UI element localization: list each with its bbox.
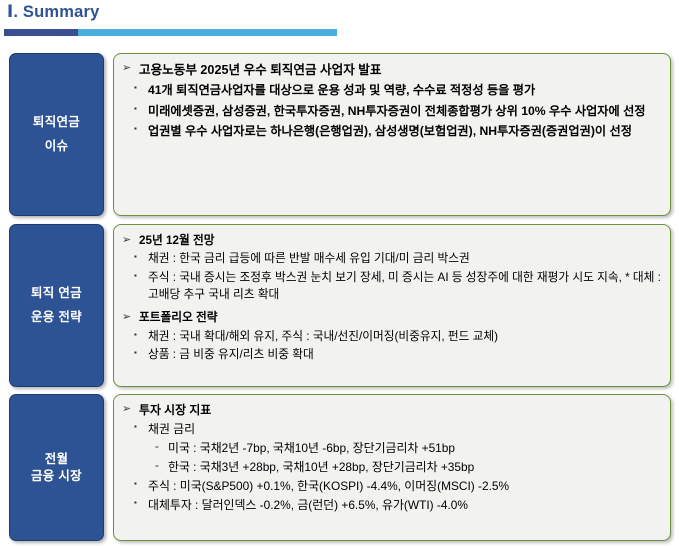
content-item-text: 미국 : 국채2년 -7bp, 국채10년 -6bp, 장단기금리차 +51bp — [168, 441, 455, 455]
content-item-text: 고용노동부 2025년 우수 퇴직연금 사업자 발표 — [139, 63, 381, 77]
content-item: ▪ 미래에셋증권, 삼성증권, 한국투자증권, NH투자증권이 전체종합평가 상… — [122, 102, 662, 122]
section-row-pension-operation-strategy: 퇴직 연금 운용 전략 ➢ 25년 12월 전망 ▪ 채권 : 한국 금리 급등… — [0, 224, 671, 387]
section-label-line-2: 금융 시장 — [31, 468, 82, 485]
content-item-text: 업권별 우수 사업자로는 하나은행(은행업권), 삼성생명(보험업권), NH투… — [148, 124, 632, 138]
content-item: - 미국 : 국채2년 -7bp, 국채10년 -6bp, 장단기금리차 +51… — [122, 439, 662, 457]
square-bullet-icon: ▪ — [134, 82, 137, 95]
content-item: ▪ 업권별 우수 사업자로는 하나은행(은행업권), 삼성생명(보험업권), N… — [122, 122, 662, 142]
square-bullet-icon: ▪ — [134, 478, 137, 490]
section-content-pension-operation-strategy: ➢ 25년 12월 전망 ▪ 채권 : 한국 금리 급등에 따른 반발 매수세 … — [113, 224, 671, 387]
content-item-text: 미래에셋증권, 삼성증권, 한국투자증권, NH투자증권이 전체종합평가 상위 … — [148, 104, 646, 118]
content-item: ▪ 채권 : 한국 금리 급등에 따른 반발 매수세 유입 기대/미 금리 박스… — [122, 250, 662, 267]
content-item-text: 채권 금리 — [148, 422, 195, 436]
square-bullet-icon: ▪ — [134, 251, 137, 263]
square-bullet-icon: ▪ — [134, 347, 137, 359]
content-item: ➢ 25년 12월 전망 — [122, 232, 662, 249]
section-label-line-1: 퇴직연금 — [33, 111, 80, 135]
content-item-text: 41개 퇴직연금사업자를 대상으로 운용 성과 및 역량, 수수료 적정성 등을… — [148, 83, 535, 97]
dash-bullet-icon: - — [155, 439, 159, 456]
content-item: ➢ 고용노동부 2025년 우수 퇴직연금 사업자 발표 — [122, 60, 662, 80]
section-content-retirement-pension-issue: ➢ 고용노동부 2025년 우수 퇴직연금 사업자 발표 ▪ 41개 퇴직연금사… — [113, 53, 671, 216]
content-item-text: 채권 : 국내 확대/해외 유지, 주식 : 국내/선진/이머징(비중유지, 펀… — [148, 330, 498, 343]
summary-page: Ⅰ. Summary 퇴직연금 이슈 ➢ 고용노동부 2025년 우수 퇴직연금… — [0, 0, 679, 546]
square-bullet-icon: ▪ — [134, 329, 137, 341]
content-item: ▪ 상품 : 금 비중 유지/리츠 비중 확대 — [122, 346, 662, 363]
title-underline-rule — [4, 29, 337, 36]
square-bullet-icon: ▪ — [134, 270, 137, 282]
arrow-bullet-icon: ➢ — [122, 60, 131, 78]
arrow-bullet-icon: ➢ — [122, 309, 131, 325]
section-label-line-1: 전월 — [45, 451, 69, 468]
content-item-text: 대체투자 : 달러인덱스 -0.2%, 금(런던) +6.5%, 유가(WTI)… — [148, 498, 468, 512]
content-item-text: 투자 시장 지표 — [139, 403, 211, 417]
section-label-line-2: 운용 전략 — [31, 306, 82, 330]
section-label-line-1: 퇴직 연금 — [31, 282, 82, 306]
rule-dark-segment — [4, 29, 78, 36]
content-item-text: 포트폴리오 전략 — [139, 311, 218, 324]
content-item: ▪ 채권 : 국내 확대/해외 유지, 주식 : 국내/선진/이머징(비중유지,… — [122, 328, 662, 345]
content-item-text: 주식 : 미국(S&P500) +0.1%, 한국(KOSPI) -4.4%, … — [148, 479, 509, 493]
section-label-previous-month-financial-market: 전월 금융 시장 — [9, 394, 104, 541]
content-item-text: 주식 : 국내 증시는 조정후 박스권 눈치 보기 장세, 미 증시는 AI 등… — [148, 271, 661, 301]
content-item-text: 한국 : 국채3년 +28bp, 국채10년 +28bp, 장단기금리차 +35… — [168, 460, 474, 474]
square-bullet-icon: ▪ — [134, 103, 137, 116]
page-title: Ⅰ. Summary — [7, 2, 100, 22]
content-item-text: 25년 12월 전망 — [139, 234, 215, 247]
section-label-retirement-pension-issue: 퇴직연금 이슈 — [9, 53, 104, 216]
content-item: ▪ 주식 : 국내 증시는 조정후 박스권 눈치 보기 장세, 미 증시는 AI… — [122, 269, 662, 304]
content-item: ▪ 채권 금리 — [122, 420, 662, 438]
section-row-retirement-pension-issue: 퇴직연금 이슈 ➢ 고용노동부 2025년 우수 퇴직연금 사업자 발표 ▪ 4… — [0, 53, 671, 216]
arrow-bullet-icon: ➢ — [122, 401, 131, 418]
section-label-line-2: 이슈 — [45, 135, 69, 159]
content-item: - 한국 : 국채3년 +28bp, 국채10년 +28bp, 장단기금리차 +… — [122, 458, 662, 476]
content-item-text: 상품 : 금 비중 유지/리츠 비중 확대 — [148, 348, 314, 361]
content-item: ▪ 41개 퇴직연금사업자를 대상으로 운용 성과 및 역량, 수수료 적정성 … — [122, 81, 662, 101]
square-bullet-icon: ▪ — [134, 123, 137, 136]
arrow-bullet-icon: ➢ — [122, 232, 131, 248]
content-item: ➢ 포트폴리오 전략 — [122, 309, 662, 326]
content-item: ▪ 대체투자 : 달러인덱스 -0.2%, 금(런던) +6.5%, 유가(WT… — [122, 496, 662, 514]
content-item: ➢ 투자 시장 지표 — [122, 401, 662, 419]
content-spacer — [122, 304, 662, 308]
square-bullet-icon: ▪ — [134, 497, 137, 509]
section-content-previous-month-financial-market: ➢ 투자 시장 지표 ▪ 채권 금리 - 미국 : 국채2년 -7bp, 국채1… — [113, 394, 671, 541]
section-row-previous-month-financial-market: 전월 금융 시장 ➢ 투자 시장 지표 ▪ 채권 금리 - 미국 : 국채2년 … — [0, 394, 671, 541]
dash-bullet-icon: - — [155, 458, 159, 475]
section-label-pension-operation-strategy: 퇴직 연금 운용 전략 — [9, 224, 104, 387]
rule-light-segment — [78, 29, 337, 36]
content-item: ▪ 주식 : 미국(S&P500) +0.1%, 한국(KOSPI) -4.4%… — [122, 477, 662, 495]
content-item-text: 채권 : 한국 금리 급등에 따른 반발 매수세 유입 기대/미 금리 박스권 — [148, 252, 470, 265]
square-bullet-icon: ▪ — [134, 421, 137, 433]
